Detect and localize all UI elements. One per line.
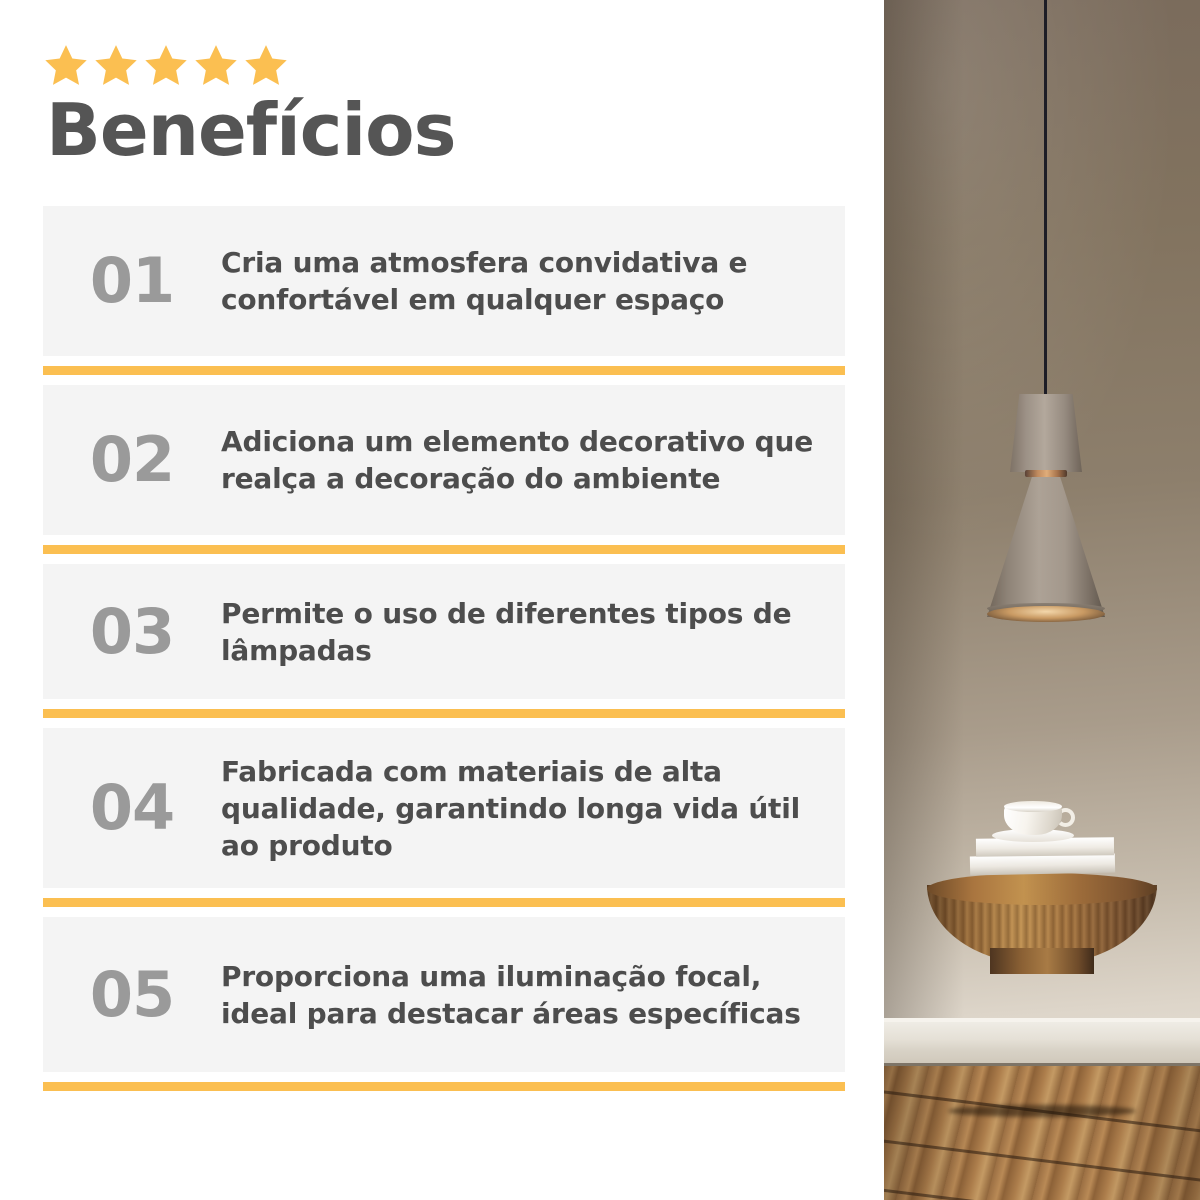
rating-stars [43,42,845,88]
benefit-item: 01 Cria uma atmosfera convidativa e conf… [43,206,845,356]
side-table-top [927,873,1157,905]
lamp-cord [1044,0,1047,396]
benefit-number: 01 [43,250,221,312]
star-icon [93,42,139,88]
benefit-item: 03 Permite o uso de diferentes tipos de … [43,564,845,699]
page-title: Benefícios [46,94,845,167]
floor-plank-seam [884,1136,1200,1185]
star-icon [143,42,189,88]
benefit-text: Permite o uso de diferentes tipos de lâm… [221,595,831,669]
accent-divider [43,1082,845,1091]
accent-divider [43,898,845,907]
floor-plank-seam [884,1184,1200,1200]
benefit-number: 04 [43,777,221,839]
lamp-upper-cone [1010,394,1082,472]
benefit-item: 05 Proporciona uma iluminação focal, ide… [43,917,845,1072]
benefit-number: 03 [43,601,221,663]
product-photo [884,0,1200,1200]
benefit-text: Proporciona uma iluminação focal, ideal … [221,958,831,1032]
benefit-text: Adiciona um elemento decorativo que real… [221,423,831,497]
accent-divider [43,709,845,718]
benefit-item: 02 Adiciona um elemento decorativo que r… [43,385,845,535]
star-icon [193,42,239,88]
content-pane: Benefícios 01 Cria uma atmosfera convida… [0,0,884,1200]
lamp-inner-glow [987,606,1105,622]
lamp-copper-collar [1025,470,1067,477]
benefit-item: 04 Fabricada com materiais de alta quali… [43,728,845,888]
accent-divider [43,366,845,375]
cup-rim [1004,801,1062,812]
star-icon [243,42,289,88]
book-stack-lower [970,853,1115,875]
benefit-number: 02 [43,429,221,491]
benefit-number: 05 [43,964,221,1026]
benefits-list: 01 Cria uma atmosfera convidativa e conf… [43,206,845,1091]
star-icon [43,42,89,88]
benefits-poster: Benefícios 01 Cria uma atmosfera convida… [0,0,1200,1200]
benefit-text: Fabricada com materiais de alta qualidad… [221,753,831,865]
accent-divider [43,545,845,554]
benefit-text: Cria uma atmosfera convidativa e confort… [221,244,831,318]
side-table-shadow [948,1105,1136,1117]
